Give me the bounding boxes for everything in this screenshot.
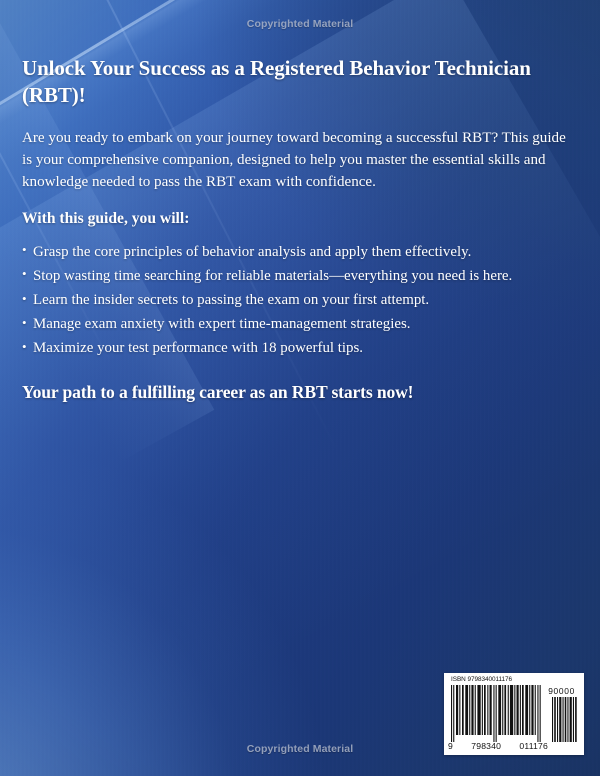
list-item: Stop wasting time searching for reliable… (22, 266, 578, 287)
list-item: Grasp the core principles of behavior an… (22, 242, 578, 263)
intro-paragraph: Are you ready to embark on your journey … (22, 127, 578, 193)
list-item: Maximize your test performance with 18 p… (22, 338, 578, 359)
copyrighted-material-bottom: Copyrighted Material (0, 743, 600, 755)
benefits-subheading: With this guide, you will: (22, 210, 582, 228)
page-title: Unlock Your Success as a Registered Beha… (22, 55, 582, 110)
list-item: Manage exam anxiety with expert time-man… (22, 314, 578, 335)
barcode-addon-caption: 90000 (548, 686, 575, 696)
cover-content: Copyrighted Material Unlock Your Success… (0, 0, 600, 776)
marketing-copy-block: Unlock Your Success as a Registered Beha… (22, 55, 582, 404)
barcode-bars-addon (552, 697, 578, 742)
list-item: Learn the insider secrets to passing the… (22, 290, 578, 311)
closing-call-to-action: Your path to a fulfilling career as an R… (22, 381, 582, 404)
copyrighted-material-top: Copyrighted Material (0, 18, 600, 30)
barcode-bars-ean13 (451, 685, 543, 742)
benefits-list: Grasp the core principles of behavior an… (22, 242, 582, 360)
book-back-cover: Copyrighted Material Unlock Your Success… (0, 0, 600, 776)
isbn-caption: ISBN 9798340011176 (451, 676, 512, 683)
